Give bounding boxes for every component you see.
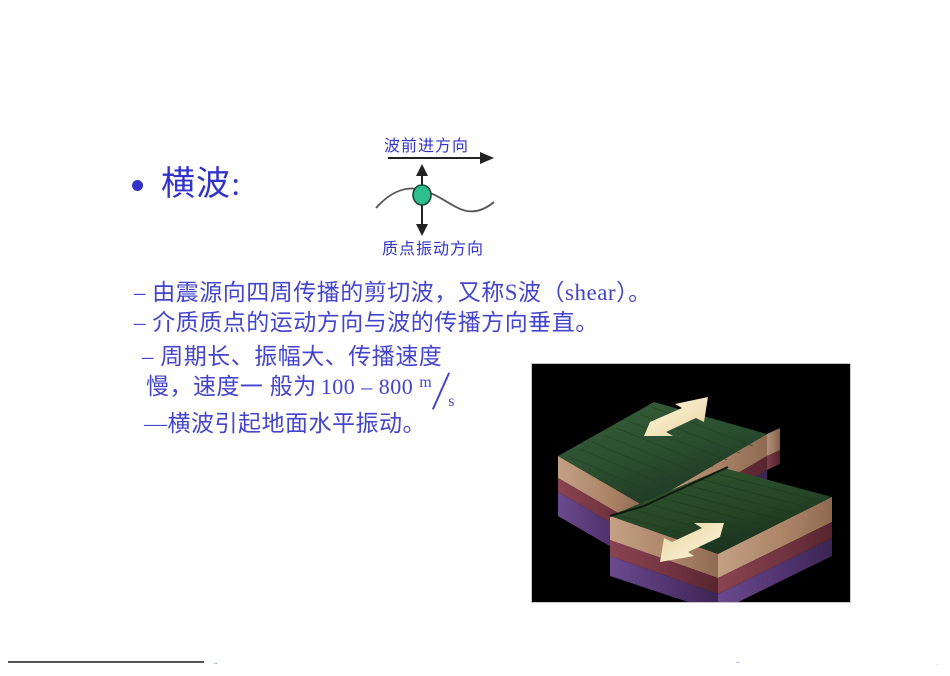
particle-vibration-label: 质点振动方向 bbox=[382, 235, 484, 259]
shear-wave-illustration bbox=[531, 363, 851, 603]
unit-denominator: s bbox=[448, 392, 455, 413]
particle-dot-icon bbox=[413, 185, 431, 205]
propagation-arrow-icon bbox=[388, 152, 494, 164]
body-line-2: – 介质质点的运动方向与波的传播方向垂直。 bbox=[134, 308, 768, 338]
footer-mark-2: ▪▪ bbox=[736, 661, 740, 666]
speed-unit-fraction: m s bbox=[419, 375, 457, 409]
footer-rule bbox=[8, 661, 204, 663]
unit-numerator: m bbox=[419, 373, 432, 394]
footer-mark-1: ▪▪ bbox=[214, 662, 218, 667]
speed-range-value: 100 – 800 bbox=[321, 373, 414, 402]
shear-wave-graphic bbox=[532, 364, 850, 602]
slide-canvas: 横波: 波前进方向 质点振动方向 – 由震源向四周传播的剪切波，又称S波（she… bbox=[0, 0, 950, 676]
heading-label: 横波: bbox=[161, 168, 241, 202]
wave-curve bbox=[376, 189, 494, 212]
slide-heading: 横波: bbox=[132, 168, 241, 202]
bullet-icon bbox=[132, 180, 143, 191]
body-line-1: – 由震源向四周传播的剪切波，又称S波（shear）。 bbox=[134, 278, 768, 308]
footer-mark-3: ▫ bbox=[936, 663, 938, 668]
speed-prefix-text: 慢，速度一 般为 bbox=[146, 372, 317, 402]
transverse-wave-diagram: 波前进方向 质点振动方向 bbox=[370, 132, 530, 264]
